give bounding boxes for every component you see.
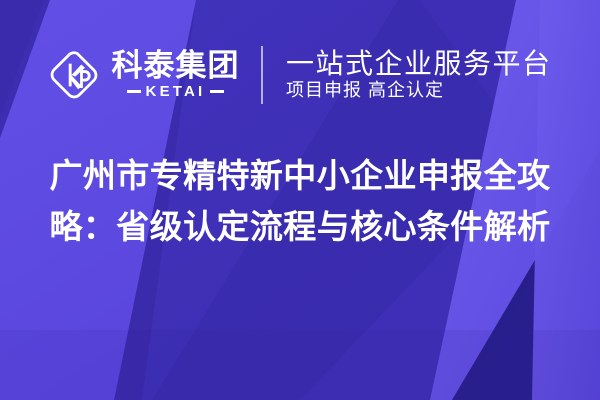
brand-rule-left bbox=[127, 90, 141, 93]
tagline-block: 一站式企业服务平台 项目申报 高企认定 bbox=[263, 49, 552, 101]
tagline-secondary: 项目申报 高企认定 bbox=[286, 81, 552, 101]
title-line-1: 广州市专精特新中小企业申报全攻 bbox=[50, 153, 551, 200]
brand-lockup: 科泰集团 KETAI bbox=[48, 49, 261, 101]
banner-title: 广州市专精特新中小企业申报全攻 略：省级认定流程与核心条件解析 bbox=[0, 153, 600, 251]
brand-text: 科泰集团 KETAI bbox=[111, 50, 239, 101]
brand-en-row: KETAI bbox=[111, 83, 239, 100]
promotional-banner: 科泰集团 KETAI 一站式企业服务平台 项目申报 高企认定 广州市专精特新中小… bbox=[0, 0, 600, 400]
tagline-primary: 一站式企业服务平台 bbox=[286, 49, 552, 79]
title-line-2: 略：省级认定流程与核心条件解析 bbox=[50, 204, 551, 251]
shape-bottom-vignette bbox=[0, 330, 600, 400]
brand-name-en: KETAI bbox=[146, 83, 206, 100]
brand-rule-right bbox=[210, 90, 224, 93]
brand-name-cn: 科泰集团 bbox=[111, 50, 239, 82]
banner-header: 科泰集团 KETAI 一站式企业服务平台 项目申报 高企认定 bbox=[0, 0, 600, 150]
ketai-diamond-kp-logo-icon bbox=[48, 49, 100, 101]
